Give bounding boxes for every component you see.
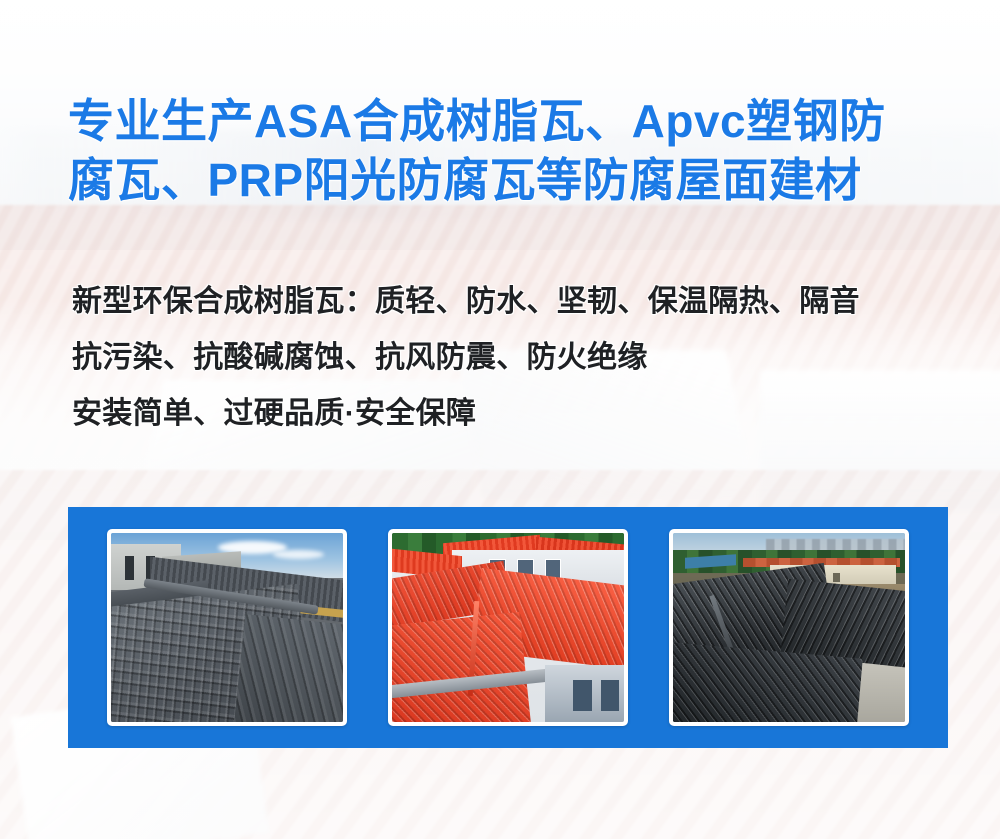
photo-frame-1[interactable] bbox=[107, 529, 347, 726]
product-gallery-panel bbox=[68, 507, 948, 748]
subtitle-line-3: 安装简单、过硬品质·安全保障 bbox=[72, 386, 972, 442]
photo-frame-3[interactable] bbox=[669, 529, 909, 726]
photo3-window-d bbox=[833, 573, 840, 582]
photo-black-resin-tile-roof bbox=[673, 533, 905, 722]
photo-frame-2[interactable] bbox=[388, 529, 628, 726]
photo1-side-roof bbox=[233, 614, 343, 722]
banner-subtitle-block: 新型环保合成树脂瓦：质轻、防水、坚韧、保温隔热、隔音 抗污染、抗酸碱腐蚀、抗风防… bbox=[72, 274, 972, 442]
subtitle-line-2: 抗污染、抗酸碱腐蚀、抗风防震、防火绝缘 bbox=[72, 330, 972, 386]
photo2-front-window-b bbox=[601, 680, 620, 710]
product-banner: 专业生产ASA合成树脂瓦、Apvc塑钢防 腐瓦、PRP阳光防腐瓦等防腐屋面建材 … bbox=[0, 0, 1000, 839]
photo-red-resin-tile-roof bbox=[392, 533, 624, 722]
photo2-front-roof bbox=[392, 612, 532, 722]
banner-headline: 专业生产ASA合成树脂瓦、Apvc塑钢防 腐瓦、PRP阳光防腐瓦等防腐屋面建材 bbox=[68, 92, 958, 210]
photo-grey-resin-tile-roof bbox=[111, 533, 343, 722]
subtitle-line-1: 新型环保合成树脂瓦：质轻、防水、坚韧、保温隔热、隔音 bbox=[72, 274, 972, 330]
photo1-window-a bbox=[125, 556, 134, 581]
photo2-front-window-a bbox=[573, 680, 592, 710]
